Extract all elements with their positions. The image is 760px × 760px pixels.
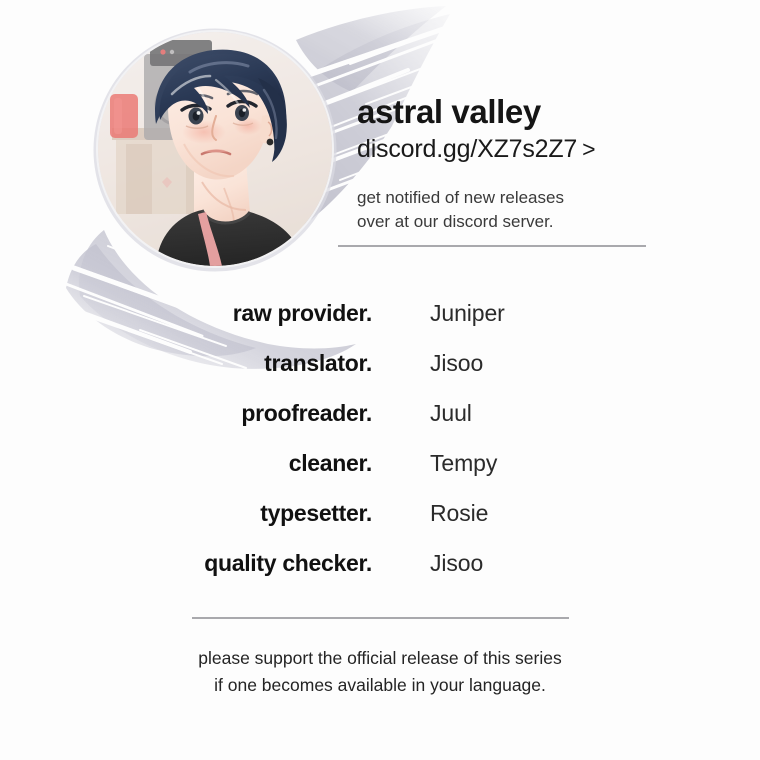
credit-role-label: raw provider.: [0, 300, 372, 327]
tagline-line-1: get notified of new releases: [357, 186, 657, 210]
tagline-line-2: over at our discord server.: [357, 210, 657, 234]
list-item: raw provider. Juniper: [0, 300, 760, 350]
credits-page: astral valley discord.gg/XZ7s2Z7> get no…: [0, 0, 760, 760]
avatar: [98, 32, 332, 266]
credit-person-name: Jisoo: [430, 550, 483, 577]
credit-role-label: typesetter.: [0, 500, 372, 527]
credit-person-name: Juniper: [430, 300, 505, 327]
list-item: typesetter. Rosie: [0, 500, 760, 550]
list-item: cleaner. Tempy: [0, 450, 760, 500]
credits-list: raw provider. Juniper translator. Jisoo …: [0, 300, 760, 600]
brand-header: astral valley discord.gg/XZ7s2Z7> get no…: [357, 95, 657, 234]
credit-person-name: Rosie: [430, 500, 488, 527]
list-item: translator. Jisoo: [0, 350, 760, 400]
credit-person-name: Jisoo: [430, 350, 483, 377]
credit-role-label: proofreader.: [0, 400, 372, 427]
credit-person-name: Tempy: [430, 450, 497, 477]
divider-bottom: [192, 617, 569, 619]
support-notice-line-1: please support the official release of t…: [0, 645, 760, 672]
divider-top: [338, 245, 646, 247]
discord-link[interactable]: discord.gg/XZ7s2Z7>: [357, 134, 657, 165]
list-item: proofreader. Juul: [0, 400, 760, 450]
credit-person-name: Juul: [430, 400, 472, 427]
support-notice: please support the official release of t…: [0, 645, 760, 699]
chevron-right-icon: >: [582, 136, 595, 162]
support-notice-line-2: if one becomes available in your languag…: [0, 672, 760, 699]
page-title: astral valley: [357, 95, 657, 130]
credit-role-label: translator.: [0, 350, 372, 377]
list-item: quality checker. Jisoo: [0, 550, 760, 600]
discord-link-text: discord.gg/XZ7s2Z7: [357, 135, 577, 163]
credit-role-label: cleaner.: [0, 450, 372, 477]
avatar-illustration: [98, 32, 332, 266]
credit-role-label: quality checker.: [0, 550, 372, 577]
tagline: get notified of new releases over at our…: [357, 186, 657, 234]
